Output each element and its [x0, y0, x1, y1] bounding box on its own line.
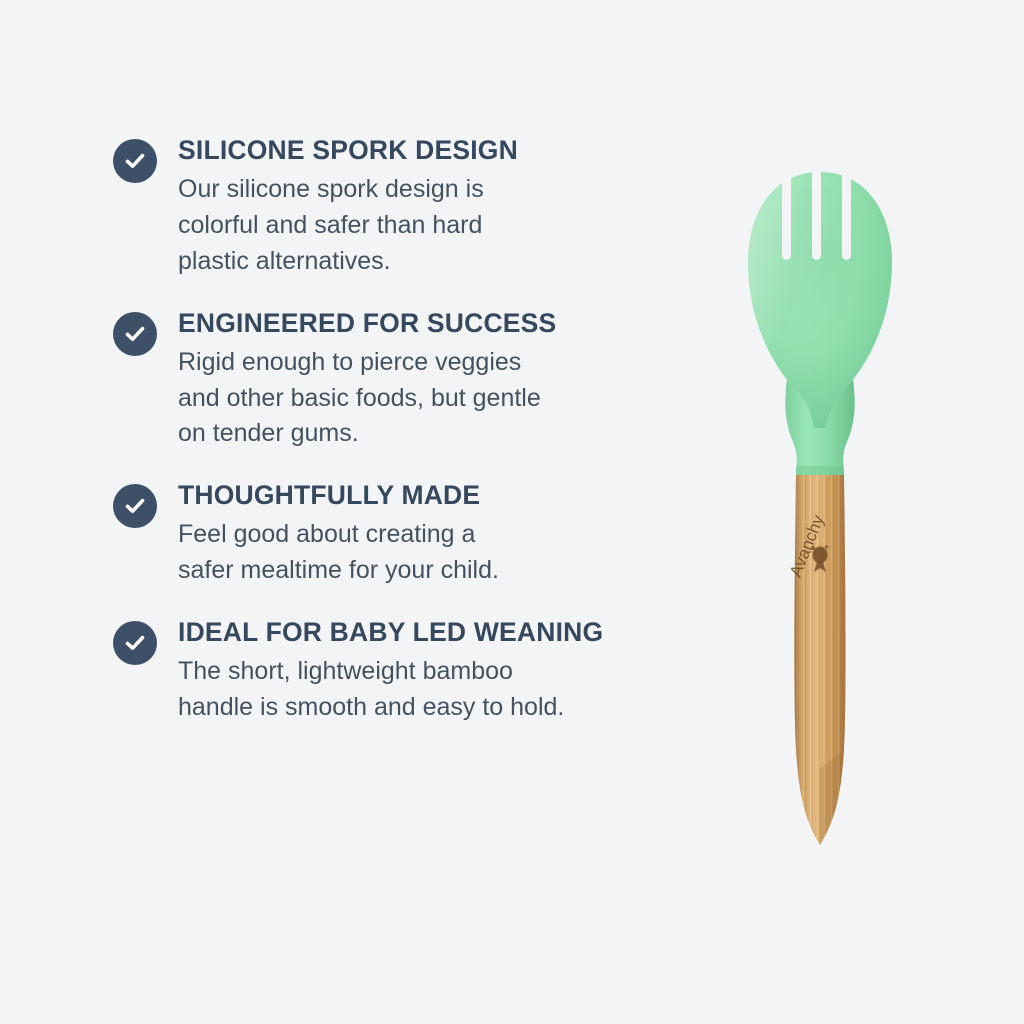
- feature-description-line: Our silicone spork design is: [178, 172, 648, 208]
- feature-title: IDEAL FOR BABY LED WEANING: [178, 617, 713, 648]
- feature-description-line: Feel good about creating a: [178, 517, 648, 553]
- check-circle-icon: [113, 312, 157, 356]
- feature-item: SILICONE SPORK DESIGN Our silicone spork…: [113, 135, 713, 280]
- spork-bamboo-handle: Avanchy: [786, 470, 852, 850]
- check-circle-icon: [113, 621, 157, 665]
- feature-description-line: handle is smooth and easy to hold.: [178, 690, 648, 726]
- check-circle-icon: [113, 484, 157, 528]
- feature-description-line: safer mealtime for your child.: [178, 553, 648, 589]
- feature-list: SILICONE SPORK DESIGN Our silicone spork…: [113, 135, 713, 726]
- feature-description-line: Rigid enough to pierce veggies: [178, 345, 648, 381]
- feature-title: SILICONE SPORK DESIGN: [178, 135, 713, 166]
- feature-item: IDEAL FOR BABY LED WEANING The short, li…: [113, 617, 713, 726]
- feature-description-line: and other basic foods, but gentle: [178, 381, 648, 417]
- feature-item: ENGINEERED FOR SUCCESS Rigid enough to p…: [113, 308, 713, 453]
- feature-item: THOUGHTFULLY MADE Feel good about creati…: [113, 480, 713, 589]
- feature-description: The short, lightweight bamboo handle is …: [178, 654, 648, 726]
- product-image-spork: Avanchy: [700, 150, 940, 880]
- feature-title: THOUGHTFULLY MADE: [178, 480, 713, 511]
- product-feature-graphic: SILICONE SPORK DESIGN Our silicone spork…: [0, 0, 1024, 1024]
- feature-description: Our silicone spork design is colorful an…: [178, 172, 648, 279]
- feature-description: Rigid enough to pierce veggies and other…: [178, 345, 648, 452]
- feature-description-line: plastic alternatives.: [178, 244, 648, 280]
- feature-description-line: colorful and safer than hard: [178, 208, 648, 244]
- feature-description-line: on tender gums.: [178, 416, 648, 452]
- feature-title: ENGINEERED FOR SUCCESS: [178, 308, 713, 339]
- feature-description: Feel good about creating a safer mealtim…: [178, 517, 648, 589]
- check-circle-icon: [113, 139, 157, 183]
- spork-silicone-head: [748, 160, 892, 476]
- feature-description-line: The short, lightweight bamboo: [178, 654, 648, 690]
